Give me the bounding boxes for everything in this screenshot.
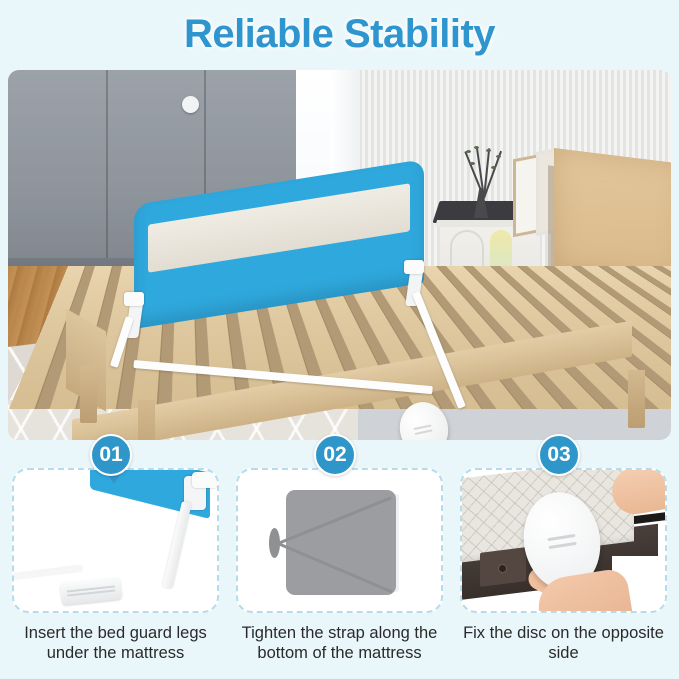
guard-rail-clip — [124, 292, 144, 306]
bed-leg — [628, 370, 645, 428]
guard-rail-leg — [162, 501, 192, 589]
cabinet-seam — [106, 70, 108, 275]
bed-leg — [80, 365, 97, 423]
guard-rail-foot-plate — [60, 577, 122, 605]
guard-rail-clip — [404, 260, 424, 274]
anchor-disc-diagram — [269, 528, 280, 558]
installation-steps: 01 02 03 Insert the bed guard legs under… — [0, 468, 679, 679]
step-badge-01: 01 — [90, 434, 132, 476]
mattress-diagram — [286, 490, 396, 595]
plant-stems — [460, 146, 506, 198]
guard-rail-crossbar — [12, 566, 82, 580]
step-caption-3: Fix the disc on the opposite side — [460, 623, 667, 663]
drawer-knob-icon — [498, 564, 507, 573]
step-illustration-1 — [12, 468, 219, 613]
step-illustration-3 — [460, 468, 667, 613]
hero-product-image — [8, 70, 671, 440]
bed-headboard — [554, 148, 671, 284]
step-item-2: Tighten the strap along the bottom of th… — [236, 468, 443, 663]
leg-bracket-top — [192, 472, 218, 488]
page-header: Reliable Stability — [0, 0, 679, 68]
guard-rail-mesh-window — [148, 183, 410, 272]
step-item-1: Insert the bed guard legs under the matt… — [12, 468, 219, 663]
step-badge-03: 03 — [538, 434, 580, 476]
step-item-3: Fix the disc on the opposite side — [460, 468, 667, 663]
cabinet-knob-icon — [182, 96, 199, 113]
step-caption-1: Insert the bed guard legs under the matt… — [12, 623, 219, 663]
page-title: Reliable Stability — [184, 12, 495, 57]
step-caption-2: Tighten the strap along the bottom of th… — [236, 623, 443, 663]
step-badge-02: 02 — [314, 434, 356, 476]
step-illustration-2 — [236, 468, 443, 613]
bed-leg — [138, 400, 155, 440]
